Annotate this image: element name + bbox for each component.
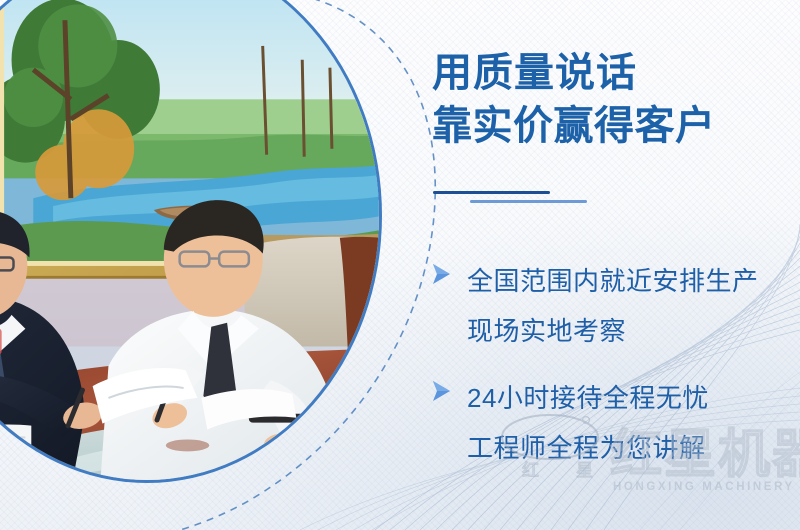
page-title: 用质量说话 靠实价赢得客户 xyxy=(432,48,716,151)
play-arrow-icon xyxy=(428,261,454,287)
feature-1-line-1: 全国范围内就近安排生产 xyxy=(467,256,759,306)
feature-item-1: 全国范围内就近安排生产 现场实地考察 xyxy=(428,256,800,356)
headline-line-2: 靠实价赢得客户 xyxy=(432,101,716,151)
feature-item-2-text: 24小时接待全程无忧 工程师全程为您讲解 xyxy=(467,373,709,473)
feature-2-line-1: 24小时接待全程无忧 xyxy=(467,373,709,423)
divider-primary xyxy=(433,191,550,194)
photo-ring-border xyxy=(0,0,382,483)
promo-banner: 用质量说话 靠实价赢得客户 全国范围内就近安排生产 现场实地考察 xyxy=(0,0,800,530)
divider-secondary xyxy=(470,200,587,203)
feature-1-line-2: 现场实地考察 xyxy=(467,306,759,356)
feature-item-1-text: 全国范围内就近安排生产 现场实地考察 xyxy=(467,256,759,356)
feature-item-2: 24小时接待全程无忧 工程师全程为您讲解 xyxy=(428,373,800,473)
meeting-photo xyxy=(0,0,379,480)
circular-photo-frame xyxy=(0,0,382,483)
content-column: 用质量说话 靠实价赢得客户 全国范围内就近安排生产 现场实地考察 xyxy=(428,0,800,530)
headline-line-1: 用质量说话 xyxy=(432,51,637,95)
feature-2-line-2: 工程师全程为您讲解 xyxy=(467,423,709,473)
play-arrow-icon xyxy=(428,378,454,404)
